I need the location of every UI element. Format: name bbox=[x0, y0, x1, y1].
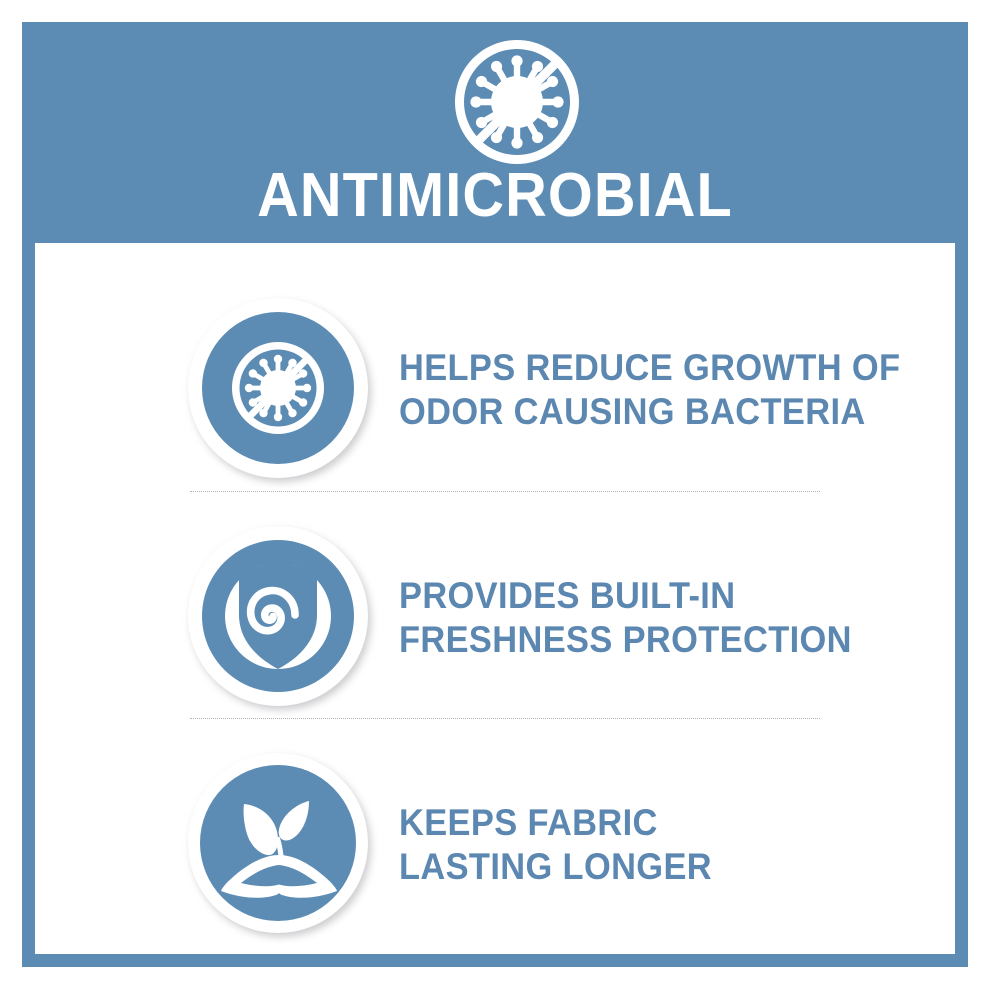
antimicrobial-infographic: ANTIMICROBIAL bbox=[0, 0, 990, 990]
shield-swirl-icon bbox=[185, 523, 375, 713]
feature-line-1: PROVIDES BUILT-IN bbox=[399, 574, 852, 618]
divider bbox=[190, 491, 820, 493]
feature-text: PROVIDES BUILT-IN FRESHNESS PROTECTION bbox=[399, 574, 852, 662]
page-title: ANTIMICROBIAL bbox=[55, 165, 935, 227]
divider bbox=[190, 718, 820, 720]
no-germ-icon bbox=[442, 27, 592, 177]
feature-row: KEEPS FABRIC LASTING LONGER bbox=[35, 745, 955, 945]
feature-row: PROVIDES BUILT-IN FRESHNESS PROTECTION bbox=[35, 518, 955, 718]
feature-row: HELPS REDUCE GROWTH OF ODOR CAUSING BACT… bbox=[35, 290, 955, 490]
header-band: ANTIMICROBIAL bbox=[22, 22, 968, 243]
feature-text: HELPS REDUCE GROWTH OF ODOR CAUSING BACT… bbox=[399, 346, 900, 434]
feature-list: HELPS REDUCE GROWTH OF ODOR CAUSING BACT… bbox=[35, 245, 955, 935]
feature-line-2: ODOR CAUSING BACTERIA bbox=[399, 390, 900, 434]
feature-line-2: FRESHNESS PROTECTION bbox=[399, 618, 852, 662]
feature-line-1: HELPS REDUCE GROWTH OF bbox=[399, 346, 900, 390]
feature-line-2: LASTING LONGER bbox=[399, 845, 712, 889]
feature-line-1: KEEPS FABRIC bbox=[399, 801, 712, 845]
no-germ-icon bbox=[185, 295, 375, 485]
feature-text: KEEPS FABRIC LASTING LONGER bbox=[399, 801, 712, 889]
leaf-sprout-icon bbox=[185, 750, 375, 940]
